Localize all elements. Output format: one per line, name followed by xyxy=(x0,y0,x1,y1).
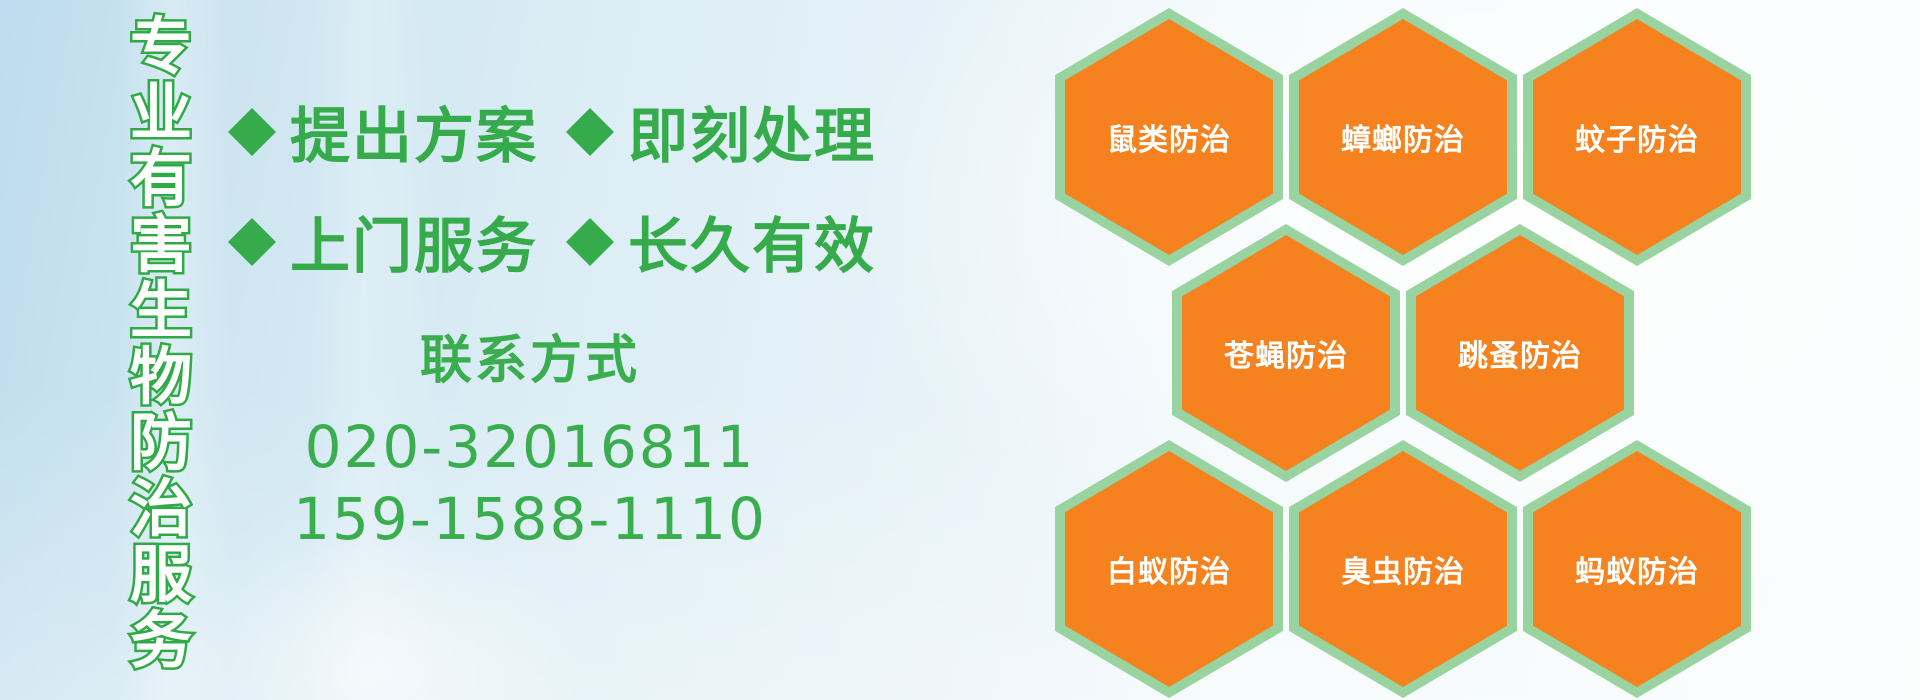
service-hexagon-label: 蟑螂防治 xyxy=(1341,115,1465,159)
vertical-headline-char: 有 xyxy=(130,146,192,212)
service-hexagon-label: 蚂蚁防治 xyxy=(1575,547,1699,591)
service-hexagon-bedbug[interactable]: 臭虫防治 xyxy=(1289,440,1517,698)
service-hexagon-mosquito[interactable]: 蚊子防治 xyxy=(1523,8,1751,266)
diamond-bullet-icon xyxy=(566,194,614,242)
service-hexagon-rodent[interactable]: 鼠类防治 xyxy=(1055,8,1283,266)
service-hexagon-label: 苍蝇防治 xyxy=(1224,331,1348,375)
feature-item: 即刻处理 xyxy=(566,88,876,175)
diamond-bullet-icon xyxy=(228,194,276,242)
promo-banner: 专 业 有 害 生 物 防 治 服 务 提出方案 即刻处理 上门服务 长久有效 xyxy=(0,0,1920,700)
feature-label: 即刻处理 xyxy=(628,88,876,175)
phone-number-landline[interactable]: 020-32016811 xyxy=(250,411,810,483)
vertical-headline-char: 专 xyxy=(130,14,192,80)
diamond-bullet-icon xyxy=(228,84,276,132)
vertical-headline-char: 治 xyxy=(130,476,192,542)
service-hexagon-termite[interactable]: 白蚁防治 xyxy=(1055,440,1283,698)
service-hexagon-label: 鼠类防治 xyxy=(1107,115,1231,159)
feature-item: 上门服务 xyxy=(228,198,566,285)
vertical-headline: 专 业 有 害 生 物 防 治 服 务 xyxy=(118,14,204,686)
vertical-headline-char: 务 xyxy=(130,608,192,674)
feature-row: 提出方案 即刻处理 xyxy=(228,88,876,175)
service-hexagon-label: 白蚁防治 xyxy=(1107,547,1231,591)
service-hexagon-label: 蚊子防治 xyxy=(1575,115,1699,159)
vertical-headline-char: 生 xyxy=(130,278,192,344)
phone-number-mobile[interactable]: 159-1588-1110 xyxy=(250,483,810,555)
service-hexagon-label: 跳蚤防治 xyxy=(1458,331,1582,375)
vertical-headline-char: 物 xyxy=(130,344,192,410)
service-hexagon-grid: 鼠类防治 蟑螂防治 蚊子防治 苍蝇防治 跳蚤防治 白蚁防治 臭虫防治 蚂蚁防治 xyxy=(1055,0,1805,700)
service-hexagon-cockroach[interactable]: 蟑螂防治 xyxy=(1289,8,1517,266)
vertical-headline-char: 业 xyxy=(130,80,192,146)
contact-heading: 联系方式 xyxy=(250,318,810,393)
vertical-headline-char: 服 xyxy=(130,542,192,608)
contact-block: 联系方式 020-32016811 159-1588-1110 xyxy=(250,318,810,555)
service-hexagon-flea[interactable]: 跳蚤防治 xyxy=(1406,224,1634,482)
vertical-headline-char: 害 xyxy=(130,212,192,278)
vertical-headline-char: 防 xyxy=(130,410,192,476)
feature-row: 上门服务 长久有效 xyxy=(228,198,876,285)
service-hexagon-ant[interactable]: 蚂蚁防治 xyxy=(1523,440,1751,698)
diamond-bullet-icon xyxy=(566,84,614,132)
feature-item: 提出方案 xyxy=(228,88,566,175)
service-hexagon-fly[interactable]: 苍蝇防治 xyxy=(1172,224,1400,482)
service-hexagon-label: 臭虫防治 xyxy=(1341,547,1465,591)
feature-label: 上门服务 xyxy=(290,198,538,285)
feature-label: 长久有效 xyxy=(628,198,876,285)
feature-item: 长久有效 xyxy=(566,198,876,285)
feature-label: 提出方案 xyxy=(290,88,538,175)
